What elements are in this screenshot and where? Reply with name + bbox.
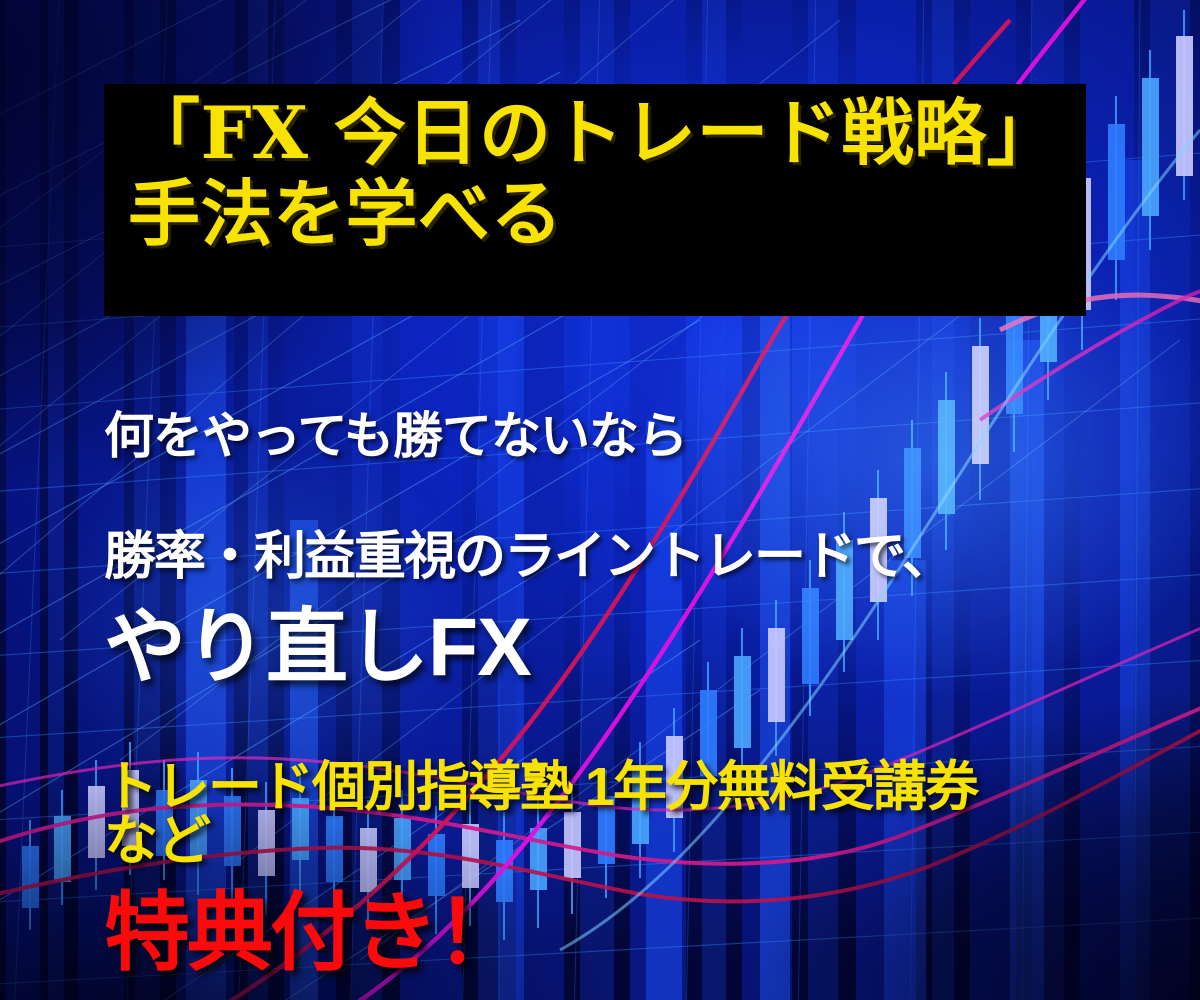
tagline-method: 勝率・利益重視のライントレードで、	[104, 514, 952, 589]
page-title: 「FX 今日のトレード戦略」 手法を学べる	[128, 92, 1108, 255]
tagline-question: 何をやっても勝てないなら	[104, 396, 687, 468]
bonus-badge-text: 特典付き！	[104, 862, 519, 987]
bonus-coupon-text: トレード個別指導塾 1年分無料受講券	[104, 742, 977, 821]
poster-canvas: 「FX 今日のトレード戦略」 手法を学べる 何をやっても勝てないなら 勝率・利益…	[0, 0, 1200, 1000]
product-name-headline: やり直しFX	[104, 580, 531, 699]
